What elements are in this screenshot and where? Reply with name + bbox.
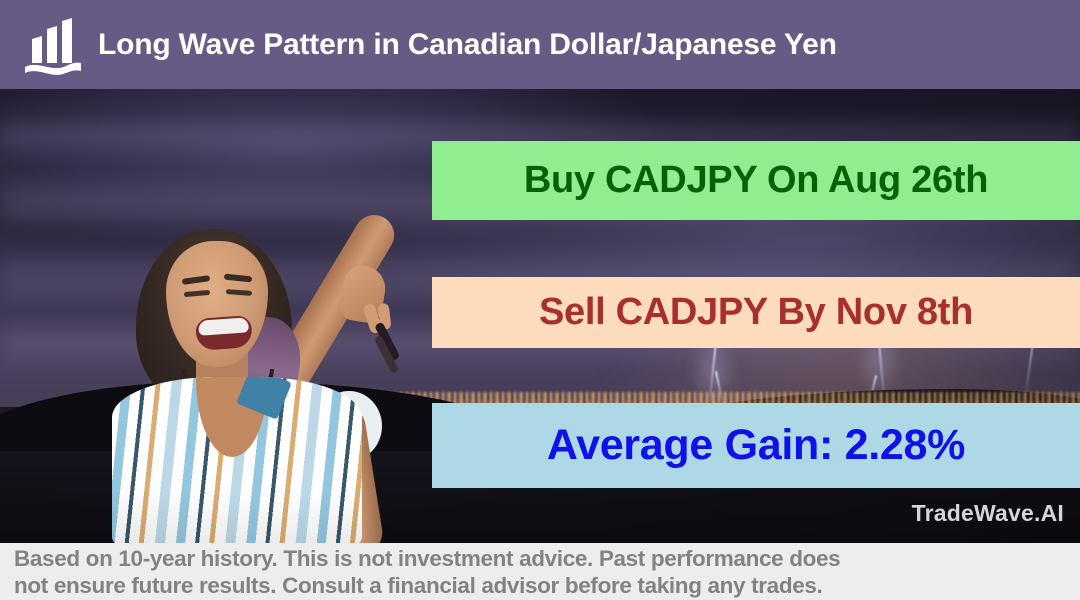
sell-signal-banner: Sell CADJPY By Nov 8th — [432, 277, 1080, 348]
average-gain-label: Average Gain: 2.28% — [547, 421, 965, 470]
buy-signal-banner: Buy CADJPY On Aug 26th — [432, 141, 1080, 220]
raised-hand — [338, 263, 388, 325]
bar-chart-wave-logo-icon — [22, 17, 84, 75]
buy-signal-label: Buy CADJPY On Aug 26th — [524, 159, 988, 202]
striped-shirt — [112, 377, 362, 543]
disclaimer-line-2: not ensure future results. Consult a fin… — [14, 572, 1074, 599]
teeth — [198, 317, 249, 335]
page-title: Long Wave Pattern in Canadian Dollar/Jap… — [98, 28, 837, 62]
sell-signal-label: Sell CADJPY By Nov 8th — [539, 291, 973, 334]
disclaimer-line-1: Based on 10-year history. This is not in… — [14, 545, 1074, 572]
disclaimer-footer: Based on 10-year history. This is not in… — [0, 543, 1080, 600]
celebrating-woman — [0, 89, 430, 543]
header-bar: Long Wave Pattern in Canadian Dollar/Jap… — [0, 0, 1080, 89]
promo-poster: Long Wave Pattern in Canadian Dollar/Jap… — [0, 0, 1080, 600]
brand-watermark: TradeWave.AI — [912, 500, 1064, 527]
average-gain-banner: Average Gain: 2.28% — [432, 403, 1080, 488]
